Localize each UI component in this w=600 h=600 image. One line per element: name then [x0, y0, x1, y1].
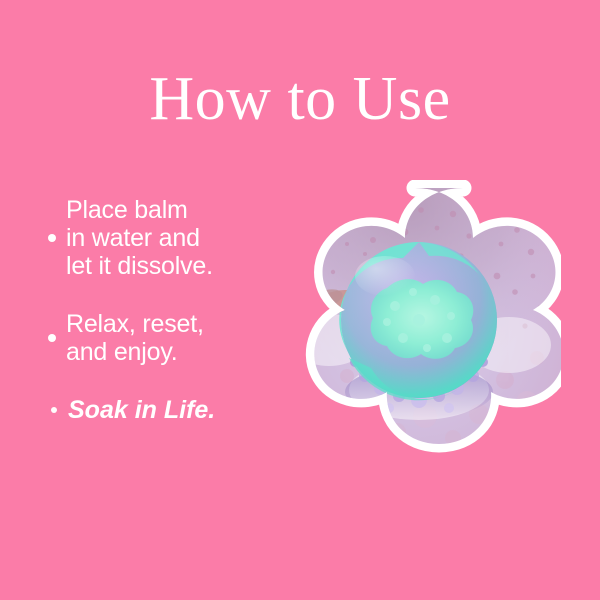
bullet-dot-icon: [48, 234, 56, 242]
step-line: and enjoy.: [66, 338, 204, 366]
list-item: Relax, reset, and enjoy.: [38, 310, 270, 366]
step-text: Soak in Life.: [68, 396, 215, 424]
how-to-use-step-list: Place balm in water and let it dissolve.…: [38, 196, 270, 424]
list-item: Place balm in water and let it dissolve.: [38, 196, 270, 280]
step-text: Relax, reset, and enjoy.: [66, 310, 204, 366]
step-line: in water and: [66, 224, 213, 252]
step-line: let it dissolve.: [66, 252, 213, 280]
step-text: Place balm in water and let it dissolve.: [66, 196, 213, 280]
step-line: Place balm: [66, 196, 213, 224]
list-item: Soak in Life.: [38, 396, 270, 424]
step-line: Soak in Life.: [68, 396, 215, 424]
page-title: How to Use: [0, 66, 600, 132]
bullet-dot-icon: [51, 407, 57, 413]
bullet-marker: [40, 407, 68, 413]
step-line: Relax, reset,: [66, 310, 204, 338]
bullet-marker: [38, 234, 66, 242]
bullet-dot-icon: [48, 334, 56, 342]
bullet-marker: [38, 334, 66, 342]
poster-canvas: How to Use Place balm in water and let i…: [0, 0, 600, 600]
product-photo-flower-frame: [269, 180, 561, 488]
